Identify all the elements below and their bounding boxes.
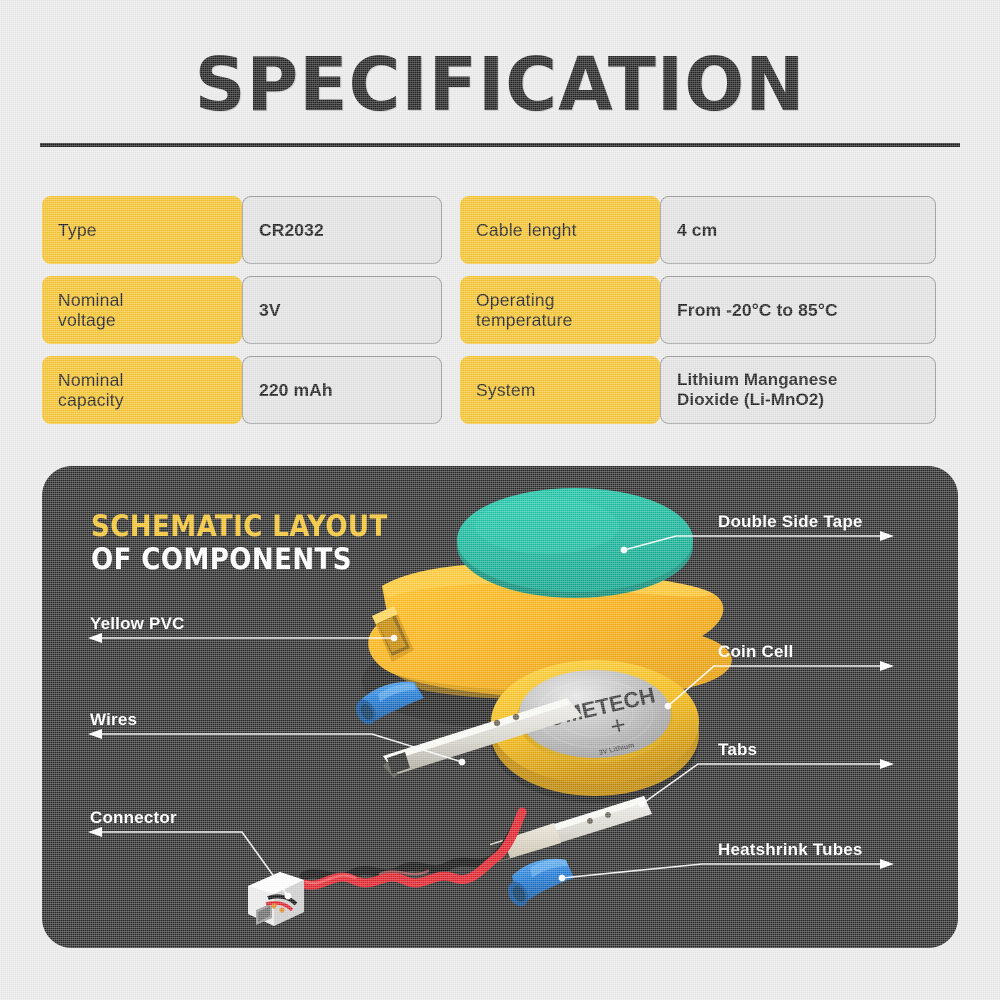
- spec-label-text-2: temperature: [476, 310, 573, 330]
- spec-value-text: CR2032: [259, 220, 324, 240]
- callout-yellow-pvc: Yellow PVC: [90, 614, 185, 634]
- callout-heatshrink-tubes: Heatshrink Tubes: [718, 840, 863, 860]
- spec-label-text: Nominal: [58, 370, 124, 390]
- callout-connector: Connector: [90, 808, 177, 828]
- spec-value-nominal-capacity: 220 mAh: [242, 356, 442, 424]
- spec-label-text-2: voltage: [58, 310, 124, 330]
- spec-value-text: From -20°C to 85°C: [677, 300, 838, 320]
- spec-label-text: Operating: [476, 290, 573, 310]
- spec-value-text: Lithium Manganese: [677, 370, 837, 390]
- callout-leader-lines: [42, 466, 958, 948]
- spec-label-cable-length: Cable lenght: [460, 196, 660, 264]
- grid-gutter: [442, 276, 460, 344]
- spec-value-nominal-voltage: 3V: [242, 276, 442, 344]
- spec-label-system: System: [460, 356, 660, 424]
- spec-value-system: Lithium Manganese Dioxide (Li-MnO2): [660, 356, 936, 424]
- spec-label-text: Nominal: [58, 290, 124, 310]
- spec-label-operating-temperature: Operating temperature: [460, 276, 660, 344]
- spec-label-nominal-capacity: Nominal capacity: [42, 356, 242, 424]
- page-title: SPECIFICATION: [0, 48, 1000, 122]
- spec-label-text-2: capacity: [58, 390, 124, 410]
- callout-double-side-tape: Double Side Tape: [718, 512, 863, 532]
- spec-label-nominal-voltage: Nominal voltage: [42, 276, 242, 344]
- schematic-panel: SCHEMATIC LAYOUT OF COMPONENTS: [42, 466, 958, 948]
- title-divider: [40, 143, 960, 147]
- spec-label-text: Type: [58, 220, 97, 240]
- spec-label-type: Type: [42, 196, 242, 264]
- spec-value-type: CR2032: [242, 196, 442, 264]
- specification-table: Type CR2032 Cable lenght 4 cm Nominal vo…: [42, 196, 960, 424]
- callout-coin-cell: Coin Cell: [718, 642, 793, 662]
- spec-value-text: 3V: [259, 300, 281, 320]
- spec-value-operating-temperature: From -20°C to 85°C: [660, 276, 936, 344]
- spec-value-text: 220 mAh: [259, 380, 333, 400]
- spec-label-text: System: [476, 380, 536, 400]
- spec-value-text: 4 cm: [677, 220, 717, 240]
- grid-gutter: [442, 196, 460, 264]
- spec-value-text-2: Dioxide (Li-MnO2): [677, 390, 837, 410]
- callout-wires: Wires: [90, 710, 137, 730]
- spec-label-text: Cable lenght: [476, 220, 577, 240]
- spec-value-cable-length: 4 cm: [660, 196, 936, 264]
- grid-gutter: [442, 356, 460, 424]
- callout-tabs: Tabs: [718, 740, 757, 760]
